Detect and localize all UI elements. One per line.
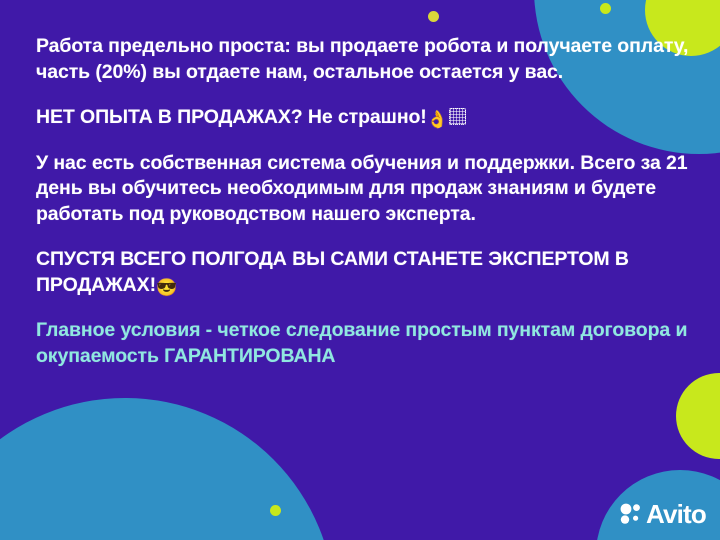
avito-logo: Avito: [620, 501, 706, 527]
paragraph-expert-text: СПУСТЯ ВСЕГО ПОЛГОДА ВЫ САМИ СТАНЕТЕ ЭКС…: [36, 248, 629, 296]
avito-dots-icon: [620, 503, 642, 525]
green-dot-bottom-decoration: [270, 505, 281, 516]
green-circle-right-decoration: [676, 373, 720, 459]
yellow-dot-top-decoration: [428, 11, 439, 22]
paragraph-condition: Главное условия - четкое следование прос…: [36, 318, 691, 369]
paragraph-training-text: У нас есть собственная система обучения …: [36, 152, 688, 225]
blue-circle-bottom-decoration: [0, 398, 335, 540]
paragraph-training: У нас есть собственная система обучения …: [36, 151, 691, 228]
paragraph-expert: СПУСТЯ ВСЕГО ПОЛГОДА ВЫ САМИ СТАНЕТЕ ЭКС…: [36, 247, 691, 298]
paragraph-intro-text: Работа предельно проста: вы продаете роб…: [36, 35, 688, 83]
paragraph-no-experience-text: НЕТ ОПЫТА В ПРОДАЖАХ? Не страшно!: [36, 106, 427, 128]
missing-glyph-icon: [449, 108, 466, 125]
promo-slide: Работа предельно проста: вы продаете роб…: [0, 0, 720, 540]
sunglasses-face-icon: 😎: [156, 279, 177, 296]
paragraph-intro: Работа предельно проста: вы продаете роб…: [36, 34, 691, 85]
avito-wordmark: Avito: [646, 501, 706, 527]
paragraph-no-experience: НЕТ ОПЫТА В ПРОДАЖАХ? Не страшно!👌: [36, 105, 691, 131]
promo-copy-block: Работа предельно проста: вы продаете роб…: [36, 34, 691, 369]
green-dot-top-right-decoration: [600, 3, 611, 14]
ok-hand-icon: 👌: [427, 111, 448, 128]
paragraph-condition-text: Главное условия - четкое следование прос…: [36, 319, 687, 367]
